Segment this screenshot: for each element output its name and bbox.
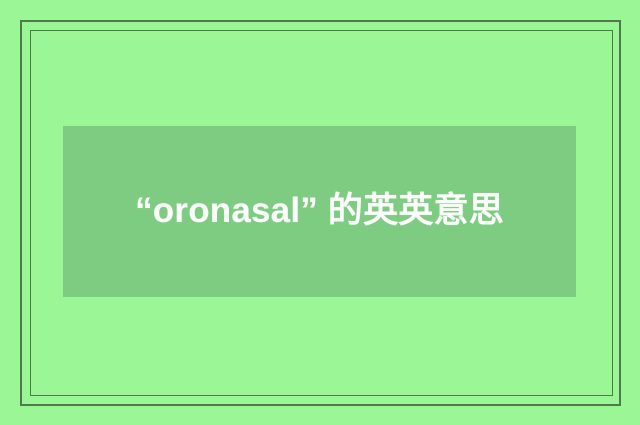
image-card: “oronasal” 的英英意思 <box>0 0 640 425</box>
headline-panel: “oronasal” 的英英意思 <box>63 126 576 297</box>
headline-text: “oronasal” 的英英意思 <box>63 183 576 240</box>
